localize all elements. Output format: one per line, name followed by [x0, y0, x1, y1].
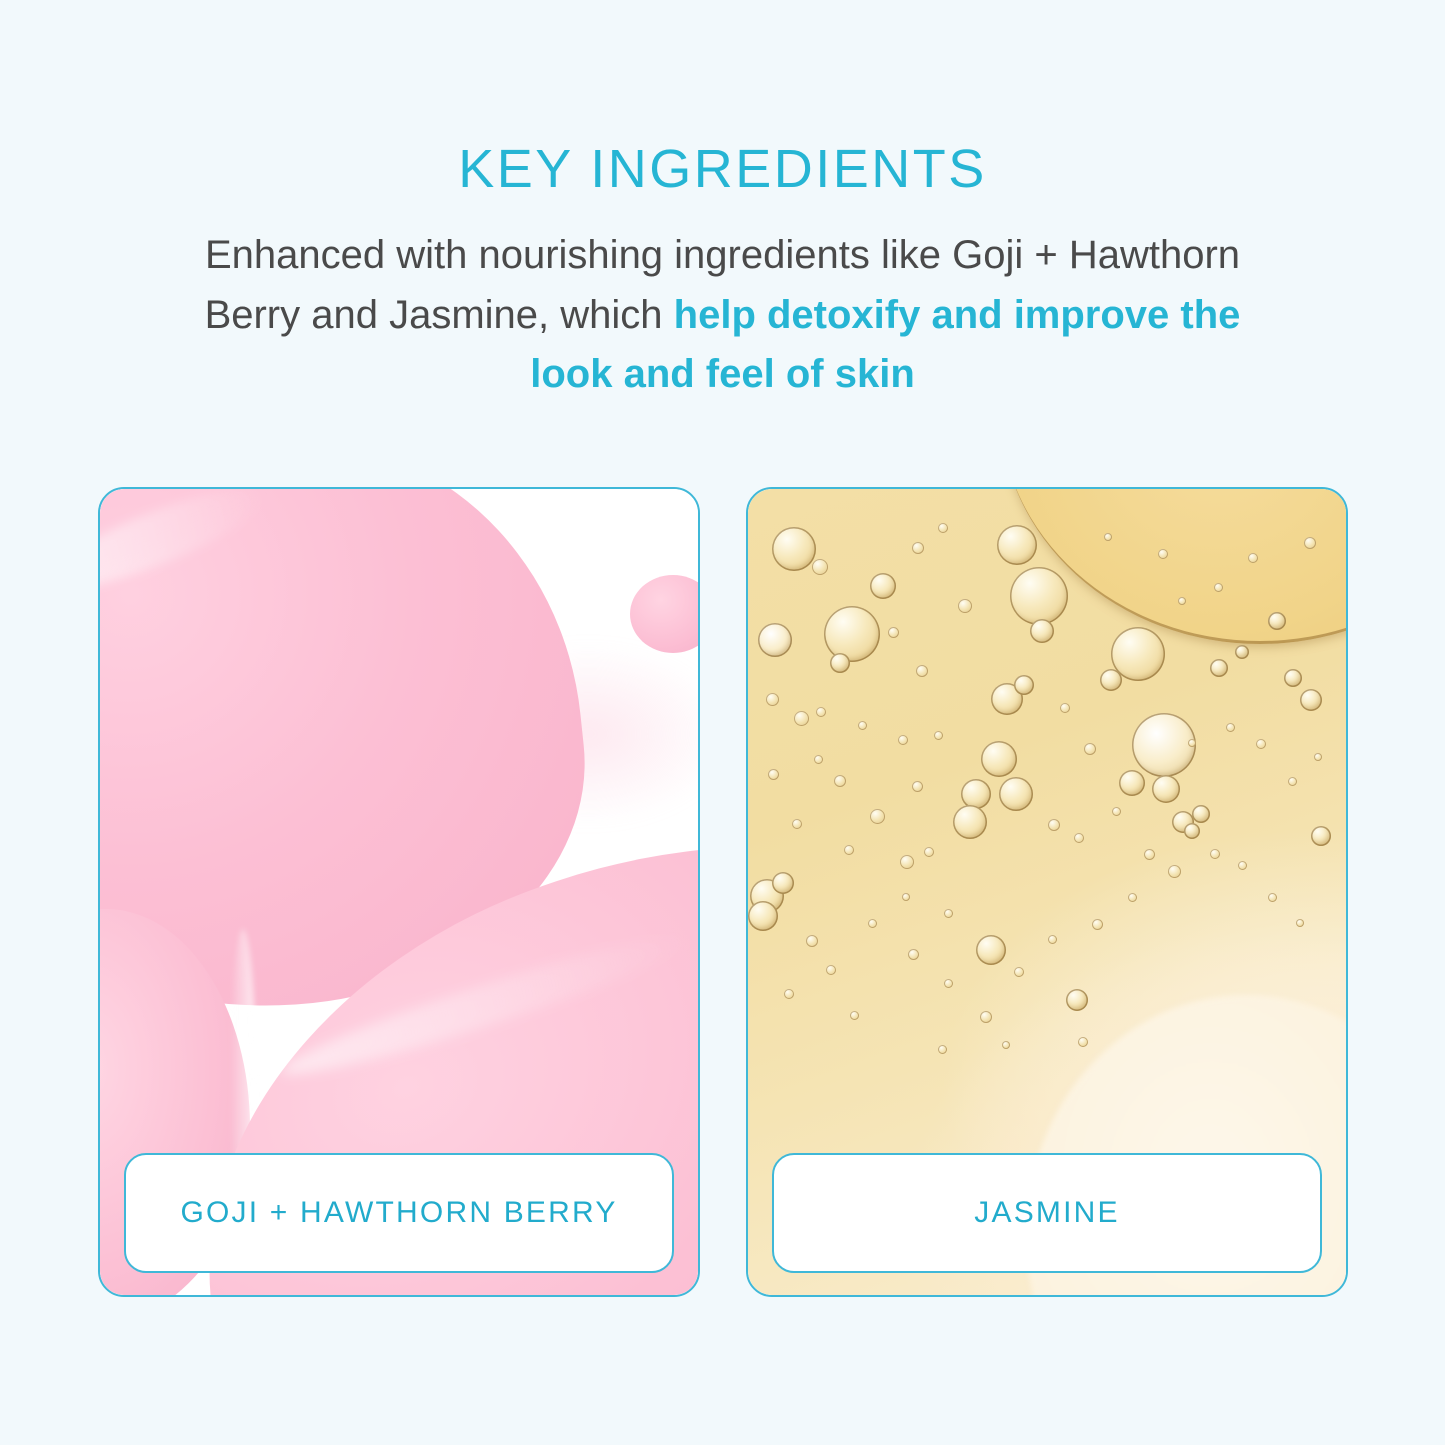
ingredient-label-plaque: JASMINE: [772, 1153, 1322, 1273]
ingredient-card-jasmine[interactable]: JASMINE: [746, 487, 1348, 1297]
ingredient-card-goji-hawthorn-berry[interactable]: GOJI + HAWTHORN BERRY: [98, 487, 700, 1297]
ingredient-card-row: GOJI + HAWTHORN BERRY: [98, 487, 1348, 1297]
header: KEY INGREDIENTS Enhanced with nourishing…: [0, 0, 1445, 404]
page-title: KEY INGREDIENTS: [0, 0, 1445, 198]
ingredient-label-plaque: GOJI + HAWTHORN BERRY: [124, 1153, 674, 1273]
ingredient-label-text: GOJI + HAWTHORN BERRY: [180, 1196, 617, 1230]
subheading: Enhanced with nourishing ingredients lik…: [178, 198, 1268, 404]
ingredient-label-text: JASMINE: [974, 1196, 1119, 1230]
